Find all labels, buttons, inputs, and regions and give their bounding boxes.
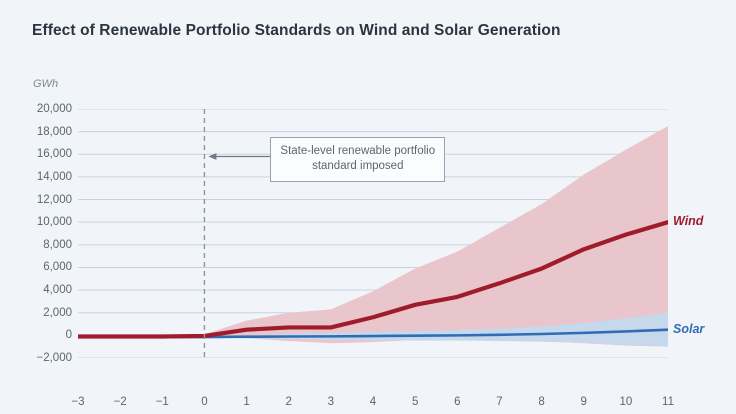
x-axis-tick: −1 [156, 396, 169, 408]
x-axis-tick: 8 [538, 396, 544, 408]
y-axis-tick: 6,000 [43, 261, 72, 273]
chart-container: Effect of Renewable Portfolio Standards … [0, 0, 736, 414]
series-label-solar: Solar [673, 322, 704, 336]
y-axis-tick-labels: −2,00002,0004,0006,0008,00010,00012,0001… [0, 0, 72, 414]
y-axis-tick: −2,000 [37, 352, 73, 364]
y-axis-tick: 18,000 [37, 126, 72, 138]
event-annotation-box: State-level renewable portfolio standard… [270, 137, 445, 182]
x-axis-tick: 0 [201, 396, 207, 408]
series-label-wind: Wind [673, 214, 703, 228]
x-axis-tick: 2 [286, 396, 292, 408]
y-axis-tick: 12,000 [37, 194, 72, 206]
x-axis-tick: 5 [412, 396, 418, 408]
x-axis-tick: 11 [662, 396, 674, 408]
x-axis-tick: 6 [454, 396, 460, 408]
y-axis-tick: 16,000 [37, 148, 72, 160]
x-axis-tick: 3 [328, 396, 334, 408]
y-axis-tick: 14,000 [37, 171, 72, 183]
x-axis-tick: 9 [581, 396, 587, 408]
x-axis-tick: 10 [619, 396, 632, 408]
chart-title: Effect of Renewable Portfolio Standards … [32, 22, 561, 40]
y-axis-tick: 4,000 [43, 284, 72, 296]
x-axis-tick: 4 [370, 396, 376, 408]
x-axis-tick: −3 [71, 396, 84, 408]
x-axis-tick: 1 [243, 396, 249, 408]
y-axis-tick: 20,000 [37, 103, 72, 115]
y-axis-tick: 0 [66, 329, 72, 341]
x-axis-tick: −2 [114, 396, 127, 408]
y-axis-tick: 2,000 [43, 307, 72, 319]
x-axis-tick: 7 [496, 396, 502, 408]
y-axis-tick: 8,000 [43, 239, 72, 251]
y-axis-tick: 10,000 [37, 216, 72, 228]
